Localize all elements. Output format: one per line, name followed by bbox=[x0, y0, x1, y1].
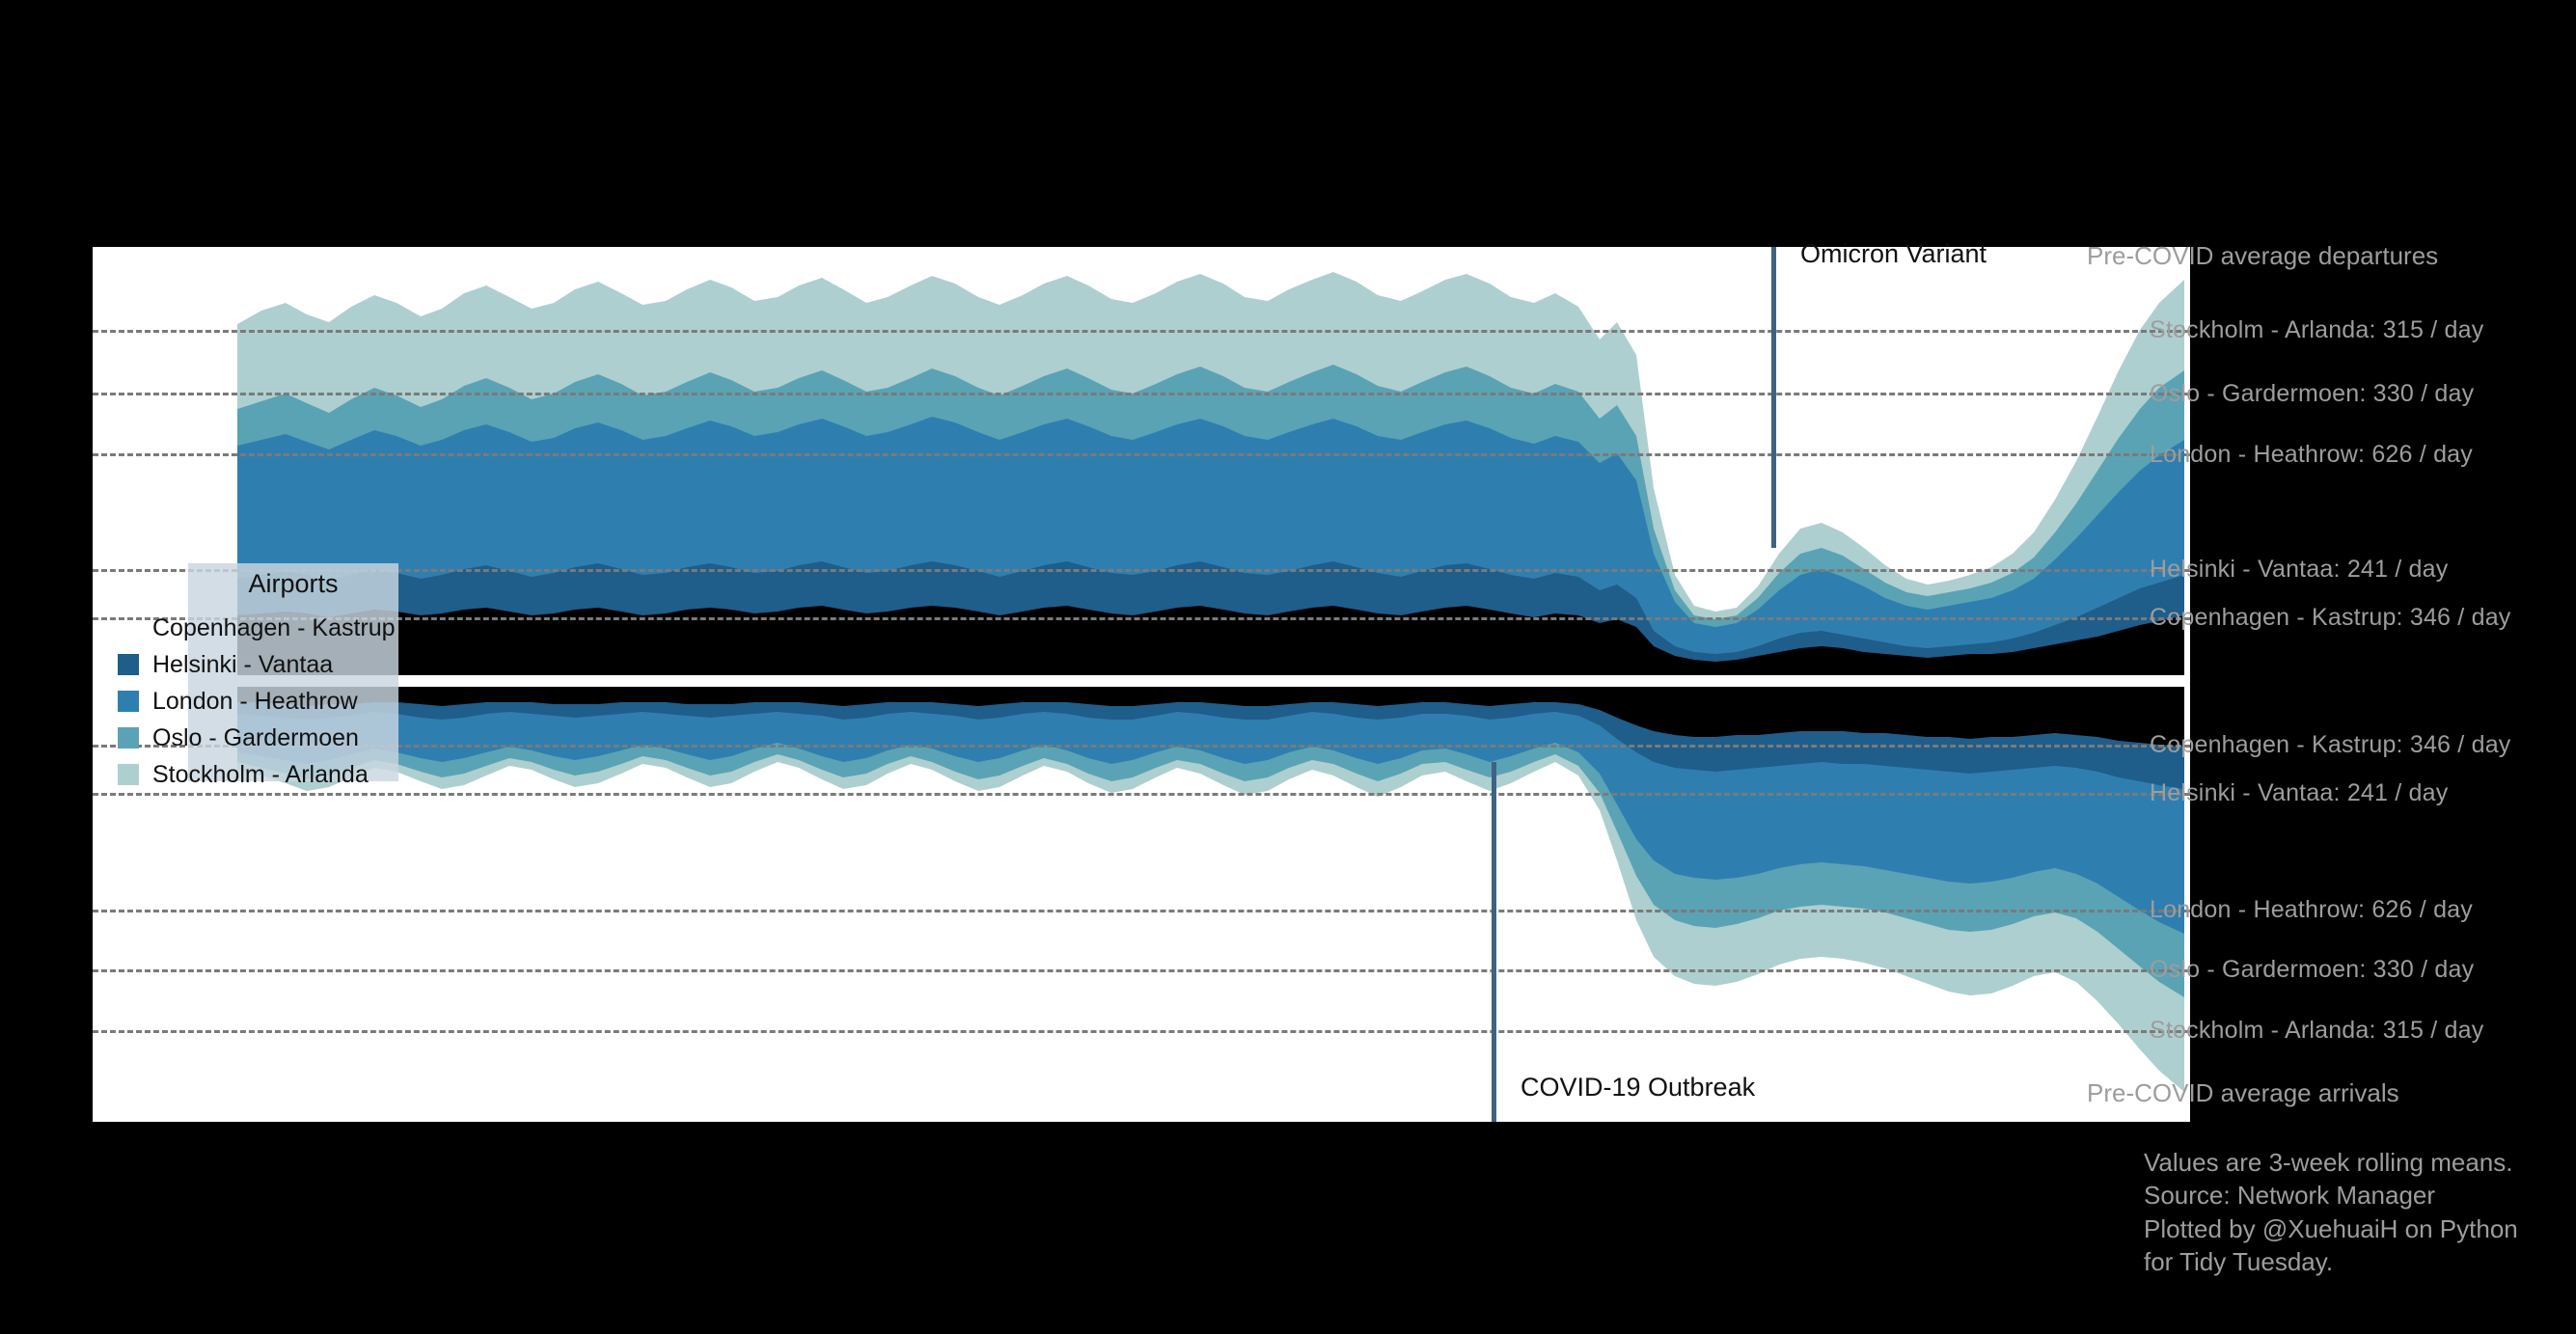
legend-swatch-oslo-gardermoen bbox=[118, 727, 139, 749]
reflabel-arrivals-oslo: Oslo - Gardermoen: 330 / day bbox=[2150, 958, 2474, 982]
footer-line-3: Plotted by @XuehuaiH on Python bbox=[2144, 1212, 2518, 1245]
chart-canvas: Pre-COVID average departures Stockholm -… bbox=[0, 0, 2576, 1334]
refline-departures-stockholm bbox=[93, 330, 2190, 333]
reflabel-arrivals-helsinki: Helsinki - Vantaa: 241 / day bbox=[2150, 781, 2448, 805]
footer-notes: Values are 3-week rolling means. Source:… bbox=[2144, 1146, 2518, 1278]
precovid-departures-title: Pre-COVID average departures bbox=[2087, 243, 2438, 268]
legend-swatch-london-heathrow bbox=[118, 691, 139, 712]
reflabel-departures-oslo: Oslo - Gardermoen: 330 / day bbox=[2150, 382, 2474, 406]
arrivals-areas bbox=[93, 687, 2190, 1122]
footer-line-1: Values are 3-week rolling means. bbox=[2144, 1146, 2518, 1179]
legend-item-helsinki-vantaa[interactable]: Helsinki - Vantaa bbox=[118, 651, 333, 678]
reflabel-arrivals-stockholm: Stockholm - Arlanda: 315 / day bbox=[2150, 1019, 2483, 1043]
reflabel-arrivals-copenhagen: Copenhagen - Kastrup: 346 / day bbox=[2150, 733, 2511, 757]
refline-departures-helsinki bbox=[93, 569, 2190, 572]
legend-title: Airports bbox=[188, 571, 398, 597]
precovid-arrivals-title: Pre-COVID average arrivals bbox=[2087, 1080, 2399, 1105]
reflabel-departures-copenhagen: Copenhagen - Kastrup: 346 / day bbox=[2150, 606, 2511, 630]
legend-swatch-stockholm-arlanda bbox=[118, 764, 139, 785]
refline-arrivals-helsinki bbox=[93, 793, 2190, 796]
legend-label-stockholm-arlanda: Stockholm - Arlanda bbox=[152, 763, 369, 787]
reflabel-arrivals-london: London - Heathrow: 626 / day bbox=[2150, 898, 2473, 922]
legend-item-london-heathrow[interactable]: London - Heathrow bbox=[118, 688, 358, 715]
legend-swatch-copenhagen-kastrup bbox=[118, 617, 139, 639]
facet-departures bbox=[93, 247, 2190, 675]
refline-arrivals-london bbox=[93, 910, 2190, 912]
departures-areas bbox=[93, 247, 2190, 675]
refline-departures-oslo bbox=[93, 393, 2190, 395]
reflabel-departures-london: London - Heathrow: 626 / day bbox=[2150, 443, 2473, 467]
legend-item-stockholm-arlanda[interactable]: Stockholm - Arlanda bbox=[118, 761, 369, 788]
reflabel-departures-stockholm: Stockholm - Arlanda: 315 / day bbox=[2150, 318, 2483, 342]
legend-label-copenhagen-kastrup: Copenhagen - Kastrup bbox=[152, 616, 396, 640]
refline-arrivals-oslo bbox=[93, 969, 2190, 972]
covid-outbreak-marker-line bbox=[1492, 762, 1496, 1122]
footer-line-4: for Tidy Tuesday. bbox=[2144, 1245, 2518, 1278]
legend-item-oslo-gardermoen[interactable]: Oslo - Gardermoen bbox=[118, 724, 359, 751]
plot-panel bbox=[93, 247, 2190, 1122]
omicron-variant-label: Omicron Variant bbox=[1800, 241, 1987, 267]
reflabel-departures-helsinki: Helsinki - Vantaa: 241 / day bbox=[2150, 558, 2448, 582]
legend-label-oslo-gardermoen: Oslo - Gardermoen bbox=[152, 726, 359, 750]
covid-outbreak-label: COVID-19 Outbreak bbox=[1521, 1075, 1755, 1101]
refline-departures-copenhagen bbox=[93, 617, 2190, 620]
facet-arrivals bbox=[93, 687, 2190, 1122]
legend-label-london-heathrow: London - Heathrow bbox=[152, 690, 358, 714]
refline-arrivals-copenhagen bbox=[93, 745, 2190, 748]
refline-arrivals-stockholm bbox=[93, 1030, 2190, 1033]
footer-line-2: Source: Network Manager bbox=[2144, 1179, 2518, 1211]
refline-departures-london bbox=[93, 453, 2190, 456]
legend-label-helsinki-vantaa: Helsinki - Vantaa bbox=[152, 653, 333, 677]
legend-item-copenhagen-kastrup[interactable]: Copenhagen - Kastrup bbox=[118, 614, 396, 641]
legend-swatch-helsinki-vantaa bbox=[118, 654, 139, 675]
omicron-variant-marker-line bbox=[1771, 247, 1776, 548]
